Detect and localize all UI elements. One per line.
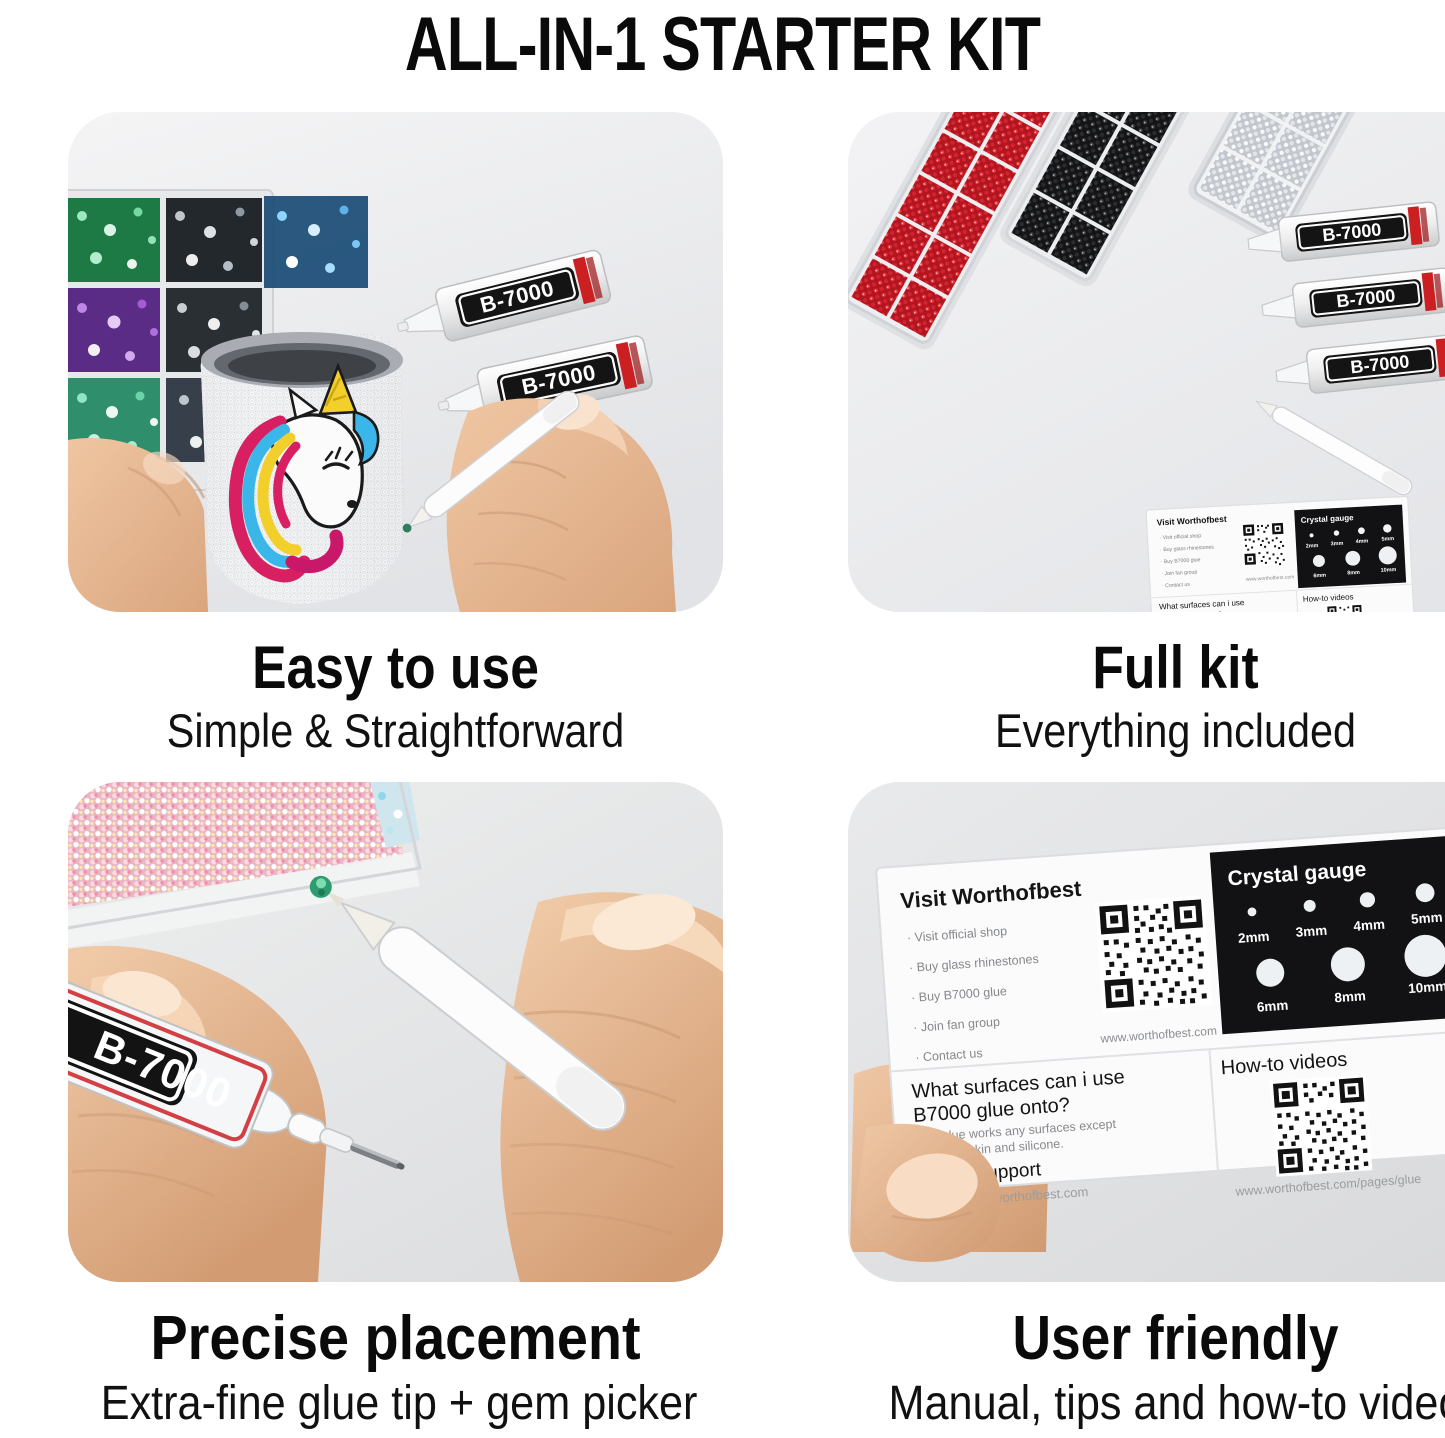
panel-precise-placement: B-7000 <box>68 782 723 1431</box>
qr-code <box>1095 895 1212 1012</box>
qr-code <box>1270 1074 1372 1176</box>
svg-text:3mm: 3mm <box>1295 923 1327 940</box>
caption-heading: User friendly <box>894 1304 1445 1373</box>
panel-full-kit: B-7000 B-7000 <box>848 112 1445 758</box>
caption-full-kit: Full kit Everything included <box>848 634 1445 758</box>
caption-subheading: Everything included <box>887 705 1445 758</box>
caption-precise-placement: Precise placement Extra-fine glue tip + … <box>68 1304 723 1431</box>
instruction-card: Visit Worthofbest · Visit official shop … <box>1146 496 1416 612</box>
caption-subheading: Simple & Straightforward <box>107 705 683 758</box>
panel-easy-to-use: B-7000 B-7000 <box>68 112 723 758</box>
photo-user-friendly: Visit Worthofbest · Visit official shop … <box>848 782 1445 1282</box>
crystal-gauge: Crystal gauge 2mm3mm4mm5mm 6mm8mm10mm <box>1210 836 1445 1034</box>
caption-user-friendly: User friendly Manual, tips and how-to vi… <box>848 1304 1445 1431</box>
caption-subheading: Extra-fine glue tip + gem picker <box>101 1377 691 1431</box>
svg-text:5mm: 5mm <box>1411 910 1443 927</box>
svg-text:4mm: 4mm <box>1353 917 1385 934</box>
panel-user-friendly: Visit Worthofbest · Visit official shop … <box>848 782 1445 1431</box>
svg-text:4mm: 4mm <box>1356 538 1369 545</box>
svg-text:10mm: 10mm <box>1381 567 1397 574</box>
caption-subheading: Manual, tips and how-to video <box>881 1377 1445 1431</box>
svg-text:6mm: 6mm <box>1256 998 1288 1015</box>
svg-text:2mm: 2mm <box>1238 929 1270 946</box>
page-title: ALL-IN-1 STARTER KIT <box>159 0 1286 88</box>
silver-rhinestone-tumbler <box>201 332 404 604</box>
svg-text:6mm: 6mm <box>1313 573 1326 580</box>
svg-text:10mm: 10mm <box>1408 978 1445 996</box>
caption-heading: Full kit <box>894 634 1445 701</box>
svg-text:2mm: 2mm <box>1306 543 1319 550</box>
caption-heading: Precise placement <box>101 1304 691 1373</box>
svg-text:5mm: 5mm <box>1381 536 1394 543</box>
caption-easy-to-use: Easy to use Simple & Straightforward <box>68 634 723 758</box>
infographic-page: ALL-IN-1 STARTER KIT <box>0 0 1445 1438</box>
photo-full-kit: B-7000 B-7000 <box>848 112 1445 612</box>
photo-easy-to-use: B-7000 B-7000 <box>68 112 723 612</box>
svg-text:3mm: 3mm <box>1331 541 1344 548</box>
svg-text:8mm: 8mm <box>1347 570 1360 577</box>
photo-precise-placement: B-7000 <box>68 782 723 1282</box>
svg-text:8mm: 8mm <box>1334 988 1366 1005</box>
caption-heading: Easy to use <box>114 634 677 701</box>
